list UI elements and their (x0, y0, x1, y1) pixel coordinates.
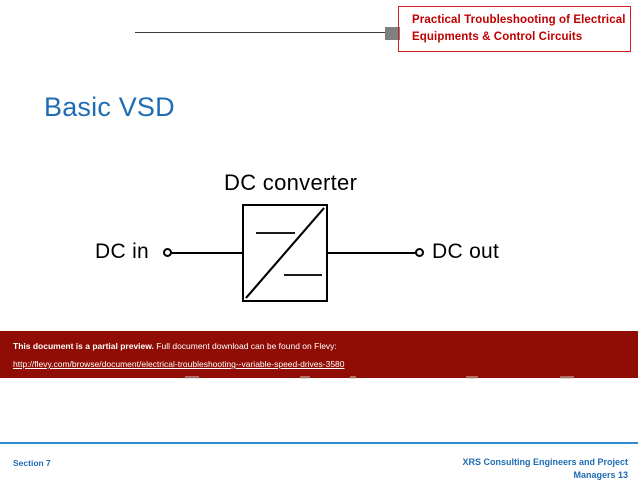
dc-in-terminal-icon (163, 248, 172, 257)
dc-out-terminal-icon (415, 248, 424, 257)
course-title: Practical Troubleshooting of Electrical … (412, 12, 627, 46)
dc-in-wire (172, 252, 242, 254)
preview-message-rest: Full document download can be found on F… (156, 341, 337, 351)
diagram-canvas: DC converter DC in DC out (0, 150, 638, 325)
footer-company-line-1: XRS Consulting Engineers and Project (378, 456, 628, 469)
converter-diagonal-icon (244, 206, 326, 300)
footer-divider-line (0, 442, 638, 444)
page-title: Basic VSD (44, 92, 175, 123)
diagram-label-dc-in: DC in (95, 240, 149, 264)
diagram-label-dc-out: DC out (432, 240, 499, 264)
preview-message: This document is a partial preview. Full… (13, 341, 337, 351)
course-title-line-2: Equipments & Control Circuits (412, 29, 627, 46)
course-title-line-1: Practical Troubleshooting of Electrical (412, 12, 627, 29)
diagram-label-dc-converter: DC converter (224, 170, 357, 196)
header-divider-line (135, 32, 387, 33)
footer-company-line-2: Managers 13 (378, 469, 628, 482)
converter-dash-upper (256, 232, 295, 234)
preview-message-strong: This document is a partial preview. (13, 341, 154, 351)
preview-download-link[interactable]: http://flevy.com/browse/document/electri… (13, 359, 345, 369)
clipped-content-remnants (0, 376, 638, 382)
footer-company-label: XRS Consulting Engineers and Project Man… (378, 456, 628, 482)
footer-section-label: Section 7 (13, 458, 51, 468)
converter-dash-lower (284, 274, 322, 276)
dc-converter-block (242, 204, 328, 302)
dc-out-wire (328, 252, 415, 254)
preview-banner (0, 331, 638, 378)
